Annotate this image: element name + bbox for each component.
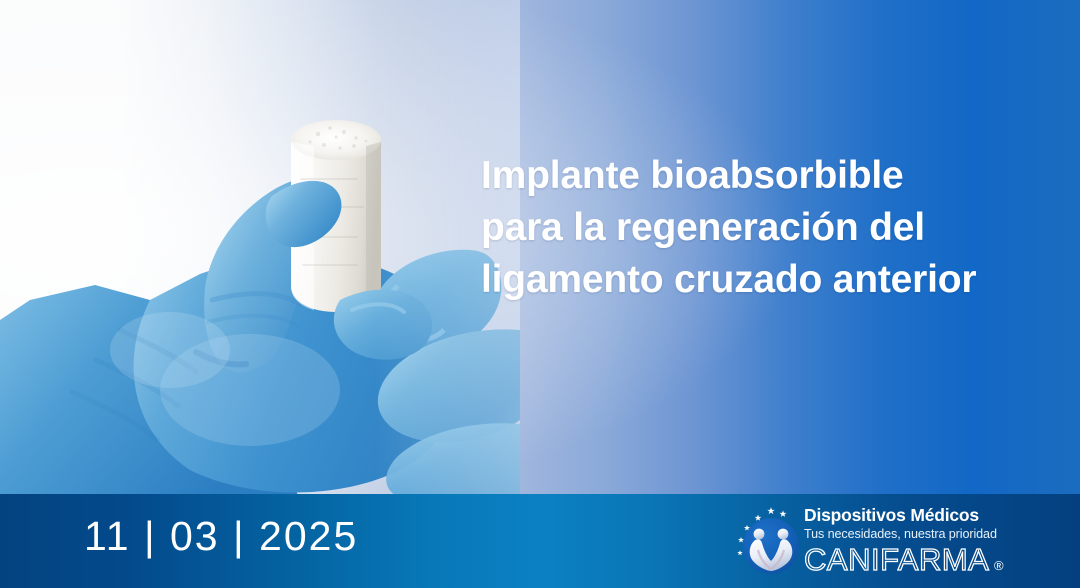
- implant-photo: [0, 0, 520, 500]
- headline-line-3: ligamento cruzado anterior: [481, 254, 1021, 306]
- headline-line-2: para la regeneración del: [481, 202, 1021, 254]
- canifarma-logo-text: Dispositivos Médicos Tus necesidades, nu…: [804, 505, 1016, 577]
- logo-wordmark: CANIFARMA ®: [804, 543, 1016, 577]
- logo-tagline: Tus necesidades, nuestra prioridad: [804, 526, 1016, 542]
- headline: Implante bioabsorbible para la regenerac…: [481, 150, 1021, 306]
- event-date: 11 | 03 | 2025: [84, 513, 358, 560]
- logo-title: Dispositivos Médicos: [804, 505, 1016, 526]
- logo-wordmark-text: CANIFARMA: [804, 543, 989, 577]
- headline-line-1: Implante bioabsorbible: [481, 150, 1021, 202]
- promo-banner: Implante bioabsorbible para la regenerac…: [0, 0, 1080, 588]
- logo-registered-mark: ®: [994, 558, 1004, 573]
- canifarma-emblem-icon: [728, 505, 804, 579]
- canifarma-logo[interactable]: Dispositivos Médicos Tus necesidades, nu…: [728, 503, 1014, 581]
